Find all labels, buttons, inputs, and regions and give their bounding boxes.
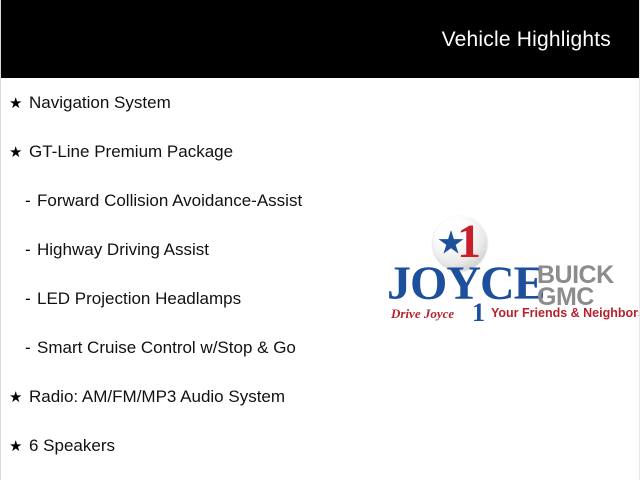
list-item: ★Radio: AM/FM/MP3 Audio System — [1, 372, 401, 421]
sub-list-item: -LED Projection Headlamps — [1, 274, 401, 323]
list-item-label: 6 Speakers — [29, 421, 115, 470]
list-item-label: GT-Line Premium Package — [29, 127, 233, 176]
list-item-label: Radio: AM/FM/MP3 Audio System — [29, 372, 285, 421]
sub-list-item-label: Forward Collision Avoidance-Assist — [37, 176, 302, 225]
star-bullet-icon: ★ — [9, 373, 29, 422]
dash-bullet-icon: - — [25, 225, 37, 274]
dealer-brands: BUICK GMC — [537, 264, 614, 308]
sub-list-item: -Smart Cruise Control w/Stop & Go — [1, 323, 401, 372]
vehicle-highlights-list: ★Navigation System ★GT-Line Premium Pack… — [1, 78, 401, 470]
tagline-number-icon: 1 — [472, 300, 485, 326]
sub-list-item: -Forward Collision Avoidance-Assist — [1, 176, 401, 225]
sub-list-item-label: Smart Cruise Control w/Stop & Go — [37, 323, 296, 372]
header-banner: Vehicle Highlights — [1, 0, 640, 78]
star-bullet-icon: ★ — [9, 128, 29, 177]
dash-bullet-icon: - — [25, 274, 37, 323]
star-bullet-icon: ★ — [9, 422, 29, 471]
page-title: Vehicle Highlights — [442, 28, 611, 52]
star-bullet-icon: ★ — [9, 79, 29, 128]
dealer-tagline: Drive Joyce 1 Your Friends & Neighbors D… — [391, 304, 633, 324]
vehicle-highlights-slide: Vehicle Highlights ★Navigation System ★G… — [0, 0, 640, 480]
dash-bullet-icon: - — [25, 176, 37, 225]
sub-list-item: -Highway Driving Assist — [1, 225, 401, 274]
dash-bullet-icon: - — [25, 323, 37, 372]
list-item: ★6 Speakers — [1, 421, 401, 470]
dealer-logo: 1 JOYCE BUICK GMC Drive Joyce 1 Your Fri… — [387, 216, 633, 334]
tagline-right: Your Friends & Neighbors Do! — [491, 306, 640, 320]
list-item: ★Navigation System — [1, 78, 401, 127]
sub-list-item-label: LED Projection Headlamps — [37, 274, 241, 323]
list-item: ★GT-Line Premium Package — [1, 127, 401, 176]
dealer-name: JOYCE — [387, 260, 545, 308]
list-item-label: Navigation System — [29, 78, 171, 127]
tagline-left: Drive Joyce — [391, 306, 454, 322]
sub-list-item-label: Highway Driving Assist — [37, 225, 209, 274]
